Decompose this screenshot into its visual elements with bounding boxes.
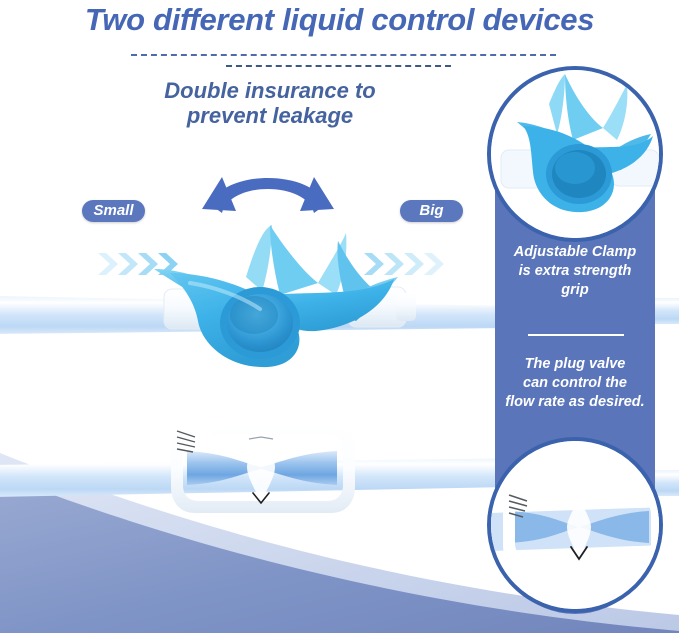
roller-clamp-icon xyxy=(165,415,360,520)
panel-caption-clamp-line-3: grip xyxy=(495,281,655,300)
badge-small: Small xyxy=(82,200,145,222)
roller-clamp-closeup-icon xyxy=(491,441,663,613)
plug-valve-icon xyxy=(150,225,440,370)
divider-dashed-lower xyxy=(226,65,451,67)
panel-caption-valve-line-1: The plug valve xyxy=(495,355,655,374)
panel-caption-clamp-line-2: is extra strength xyxy=(495,262,655,281)
page-subtitle: Double insurance to prevent leakage xyxy=(110,78,430,128)
panel-caption-valve: The plug valve can control the flow rate… xyxy=(495,355,655,412)
panel-caption-clamp: Adjustable Clamp is extra strength grip xyxy=(495,243,655,300)
divider-dashed-upper xyxy=(131,54,556,56)
plug-valve-closeup-icon xyxy=(491,70,663,242)
double-headed-curved-arrow-icon xyxy=(192,163,344,225)
infographic-canvas: Two different liquid control devices Dou… xyxy=(0,0,679,633)
subtitle-line-2: prevent leakage xyxy=(110,103,430,128)
panel-caption-valve-line-2: can control the xyxy=(495,374,655,393)
panel-divider xyxy=(528,334,624,336)
panel-caption-valve-line-3: flow rate as desired. xyxy=(495,393,655,412)
badge-big: Big xyxy=(400,200,463,222)
subtitle-line-1: Double insurance to xyxy=(110,78,430,103)
panel-caption-clamp-line-1: Adjustable Clamp xyxy=(495,243,655,262)
panel-top-photo-circle xyxy=(487,66,663,242)
page-title: Two different liquid control devices xyxy=(0,2,679,38)
panel-bottom-photo-circle xyxy=(487,437,663,613)
